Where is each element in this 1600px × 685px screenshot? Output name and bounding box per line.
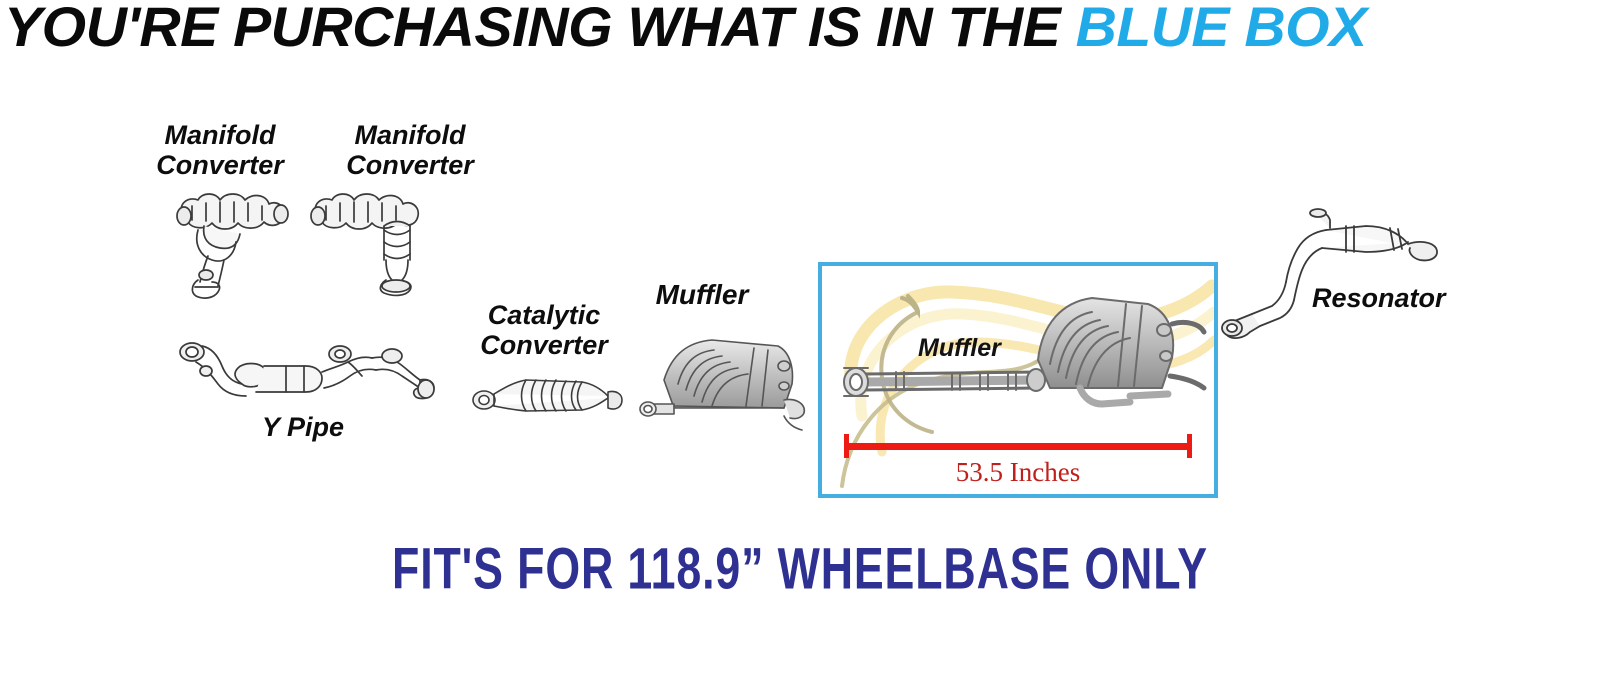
label-manifold-converter-left: Manifold Converter bbox=[132, 120, 308, 180]
blue-box-highlight: Muffler 53.5 Inches bbox=[818, 262, 1218, 498]
catalytic-converter-illustration bbox=[470, 370, 624, 422]
page-title-highlight: BLUE BOX bbox=[1076, 0, 1367, 58]
page-title: YOU'RE PURCHASING WHAT IS IN THE BLUE BO… bbox=[0, 0, 1600, 58]
dimension-label: 53.5 Inches bbox=[822, 456, 1214, 488]
dimension-cap-right bbox=[1187, 434, 1192, 458]
manifold-converter-left-illustration bbox=[168, 186, 318, 304]
dimension-line bbox=[846, 443, 1190, 450]
label-muffler: Muffler bbox=[638, 280, 766, 310]
dimension-bar bbox=[844, 434, 1192, 458]
promo-banner: YOU'RE PURCHASING WHAT IS IN THE BLUE BO… bbox=[0, 0, 1600, 685]
resonator-illustration bbox=[1218, 204, 1454, 346]
blue-box-muffler-assembly bbox=[830, 284, 1208, 436]
blue-box-part-label: Muffler bbox=[918, 334, 1001, 362]
label-catalytic-converter: Catalytic Converter bbox=[448, 300, 640, 360]
label-manifold-converter-right: Manifold Converter bbox=[322, 120, 498, 180]
page-title-lead: YOU'RE PURCHASING WHAT IS IN THE bbox=[4, 0, 1075, 58]
muffler-illustration bbox=[634, 328, 814, 436]
y-pipe-illustration bbox=[176, 332, 446, 418]
manifold-converter-right-illustration bbox=[306, 186, 436, 304]
fitment-note: FIT'S FOR 118.9” WHEELBASE ONLY bbox=[112, 536, 1488, 603]
